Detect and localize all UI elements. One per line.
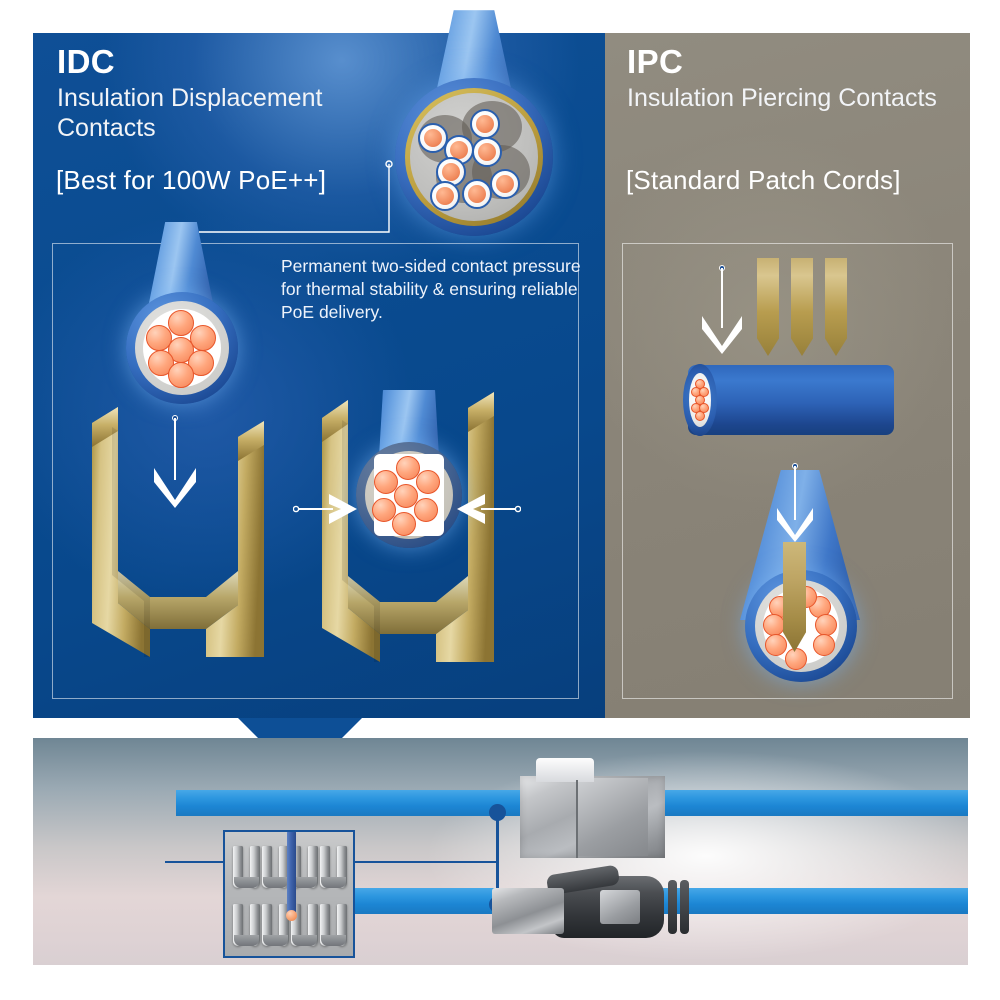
idc-pressure-arrow-left: [293, 492, 359, 526]
contact-pair: [320, 904, 347, 946]
contact-pair: [233, 904, 260, 946]
contact-pair: [233, 846, 260, 888]
ipc-insertion-arrow-down: [700, 268, 744, 358]
inset-wire-conductor: [286, 910, 297, 921]
idc-left-wire-assembly: [116, 262, 246, 402]
contact-pair: [262, 904, 289, 946]
ipc-blade-3: [825, 258, 847, 356]
plug-window: [600, 890, 640, 924]
contact-pair: [320, 846, 347, 888]
infographic-root: IDC Insulation Displacement Contacts [Be…: [0, 0, 1000, 1000]
contact-pair: [262, 846, 289, 888]
ipc-blade-2: [791, 258, 813, 356]
ipc-blade-1: [757, 258, 779, 356]
rj45-plug: [492, 872, 692, 942]
idc-fork-left-shape: [88, 365, 268, 665]
ipc-code-heading: IPC: [627, 45, 683, 78]
idc-contacts-closeup-inset: [223, 830, 355, 958]
plug-strain-relief-1: [668, 880, 677, 934]
ipc-bracket-tag: [Standard Patch Cords]: [626, 165, 901, 196]
ipc-subtitle: Insulation Piercing Contacts: [627, 84, 947, 114]
wire-cross-section-left: [126, 292, 238, 404]
idc-subtitle: Insulation Displacement Contacts: [57, 84, 417, 143]
idc-pressure-arrow-right: [455, 492, 521, 526]
wire-cross-section-right: [356, 442, 462, 548]
idc-insertion-arrow-down: [152, 418, 198, 510]
idc-header-cable-cross-section: [383, 20, 573, 230]
jack-latch-tab: [536, 758, 594, 782]
jack-front-face: [578, 778, 648, 856]
idc-fork-left: [88, 365, 268, 665]
ipc-horizontal-cable: [688, 365, 894, 435]
idc-code-heading: IDC: [57, 45, 115, 78]
callout-dot-jack: [489, 804, 506, 821]
keystone-jack: [520, 758, 665, 866]
jack-seam: [576, 780, 578, 858]
ipc-piercing-blade: [783, 542, 806, 652]
leader-line-header: [193, 160, 473, 270]
plug-strain-relief-2: [680, 880, 689, 934]
ipc-piercing-arrow-down: [775, 466, 815, 550]
ipc-cable-end-conductors: [692, 379, 708, 421]
idc-right-wire-assembly: [350, 390, 470, 550]
plug-shield: [492, 888, 564, 934]
inset-inserted-wire: [287, 830, 296, 916]
